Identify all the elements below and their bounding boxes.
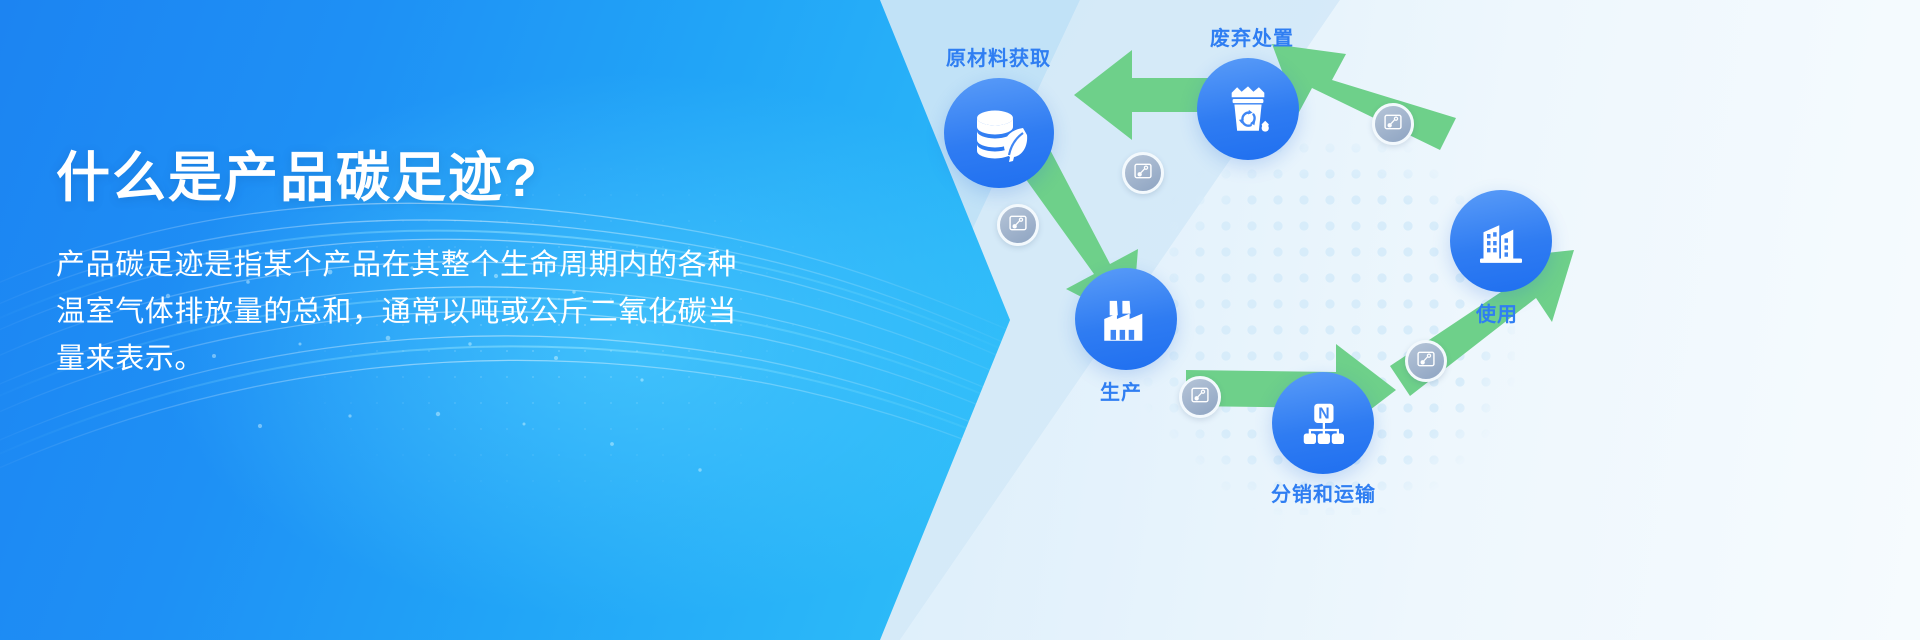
node-production[interactable] — [1075, 268, 1177, 370]
node-label-distribution: 分销和运输 — [1271, 478, 1376, 507]
hero-copy: 什么是产品碳足迹? 产品碳足迹是指某个产品在其整个生命周期内的各种温室气体排放量… — [56, 148, 776, 383]
recycle-bin-icon — [1219, 80, 1277, 138]
database-leaf-icon — [967, 101, 1031, 165]
node-label-production: 生产 — [1100, 376, 1142, 405]
image-placeholder-icon — [1190, 385, 1210, 410]
node-label-use: 使用 — [1476, 298, 1518, 327]
hero-description: 产品碳足迹是指某个产品在其整个生命周期内的各种温室气体排放量的总和，通常以吨或公… — [56, 242, 756, 383]
lifecycle-diagram: 原材料获取 废弃处置 — [900, 0, 1920, 640]
badge-use-to-waste[interactable] — [1372, 103, 1414, 145]
svg-text:N: N — [1318, 406, 1329, 423]
image-placeholder-icon — [1383, 112, 1403, 137]
node-waste[interactable] — [1197, 58, 1299, 160]
badge-production-to-distro[interactable] — [1179, 376, 1221, 418]
cycle-arrows — [900, 0, 1920, 640]
badge-raw-to-production[interactable] — [997, 204, 1039, 246]
buildings-icon — [1473, 213, 1529, 269]
badge-distro-to-use[interactable] — [1405, 340, 1447, 382]
factory-icon — [1097, 290, 1155, 348]
network-hierarchy-icon: N — [1295, 395, 1351, 451]
node-label-raw-material: 原材料获取 — [946, 42, 1051, 71]
node-label-waste: 废弃处置 — [1210, 22, 1294, 51]
badge-waste-to-raw[interactable] — [1122, 152, 1164, 194]
node-use[interactable] — [1450, 190, 1552, 292]
image-placeholder-icon — [1008, 213, 1028, 238]
hero-banner: 什么是产品碳足迹? 产品碳足迹是指某个产品在其整个生命周期内的各种温室气体排放量… — [0, 0, 1920, 640]
image-placeholder-icon — [1416, 349, 1436, 374]
node-raw-material[interactable] — [944, 78, 1054, 188]
node-distribution[interactable]: N — [1272, 372, 1374, 474]
image-placeholder-icon — [1133, 161, 1153, 186]
page-title: 什么是产品碳足迹? — [56, 148, 776, 208]
